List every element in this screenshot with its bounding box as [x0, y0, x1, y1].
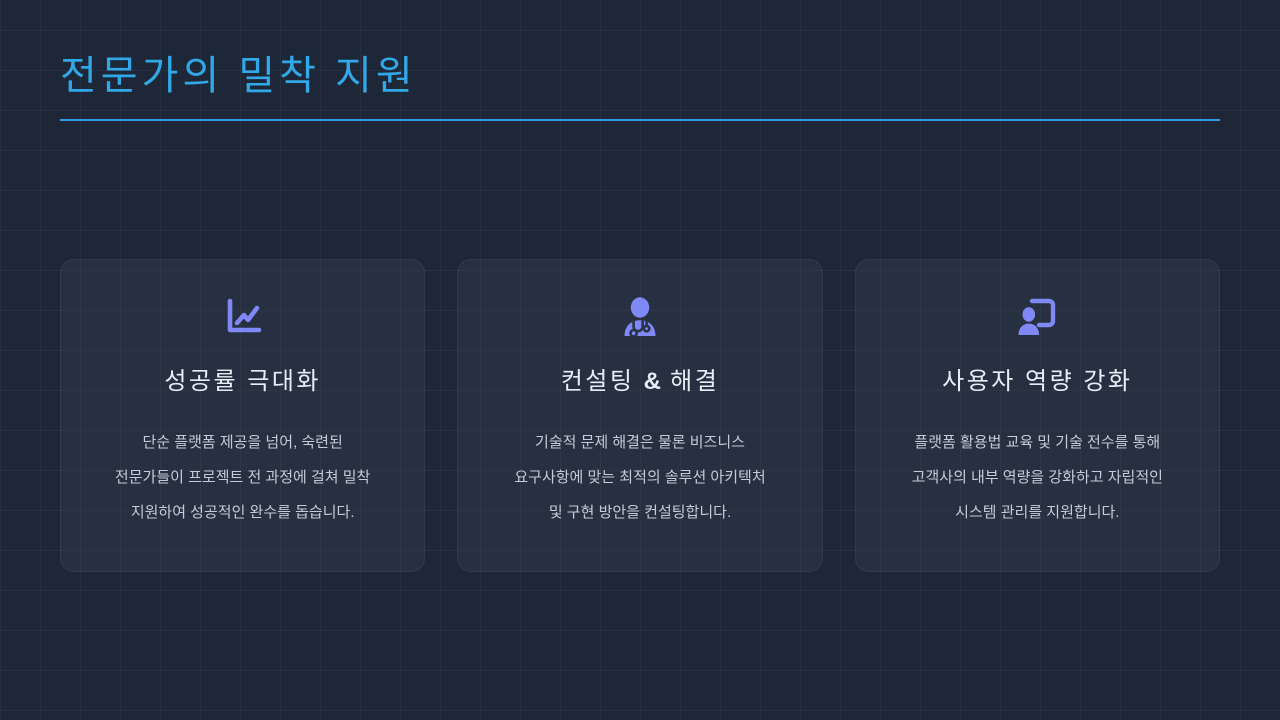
card-description: 단순 플랫폼 제공을 넘어, 숙련된 전문가들이 프로젝트 전 과정에 걸쳐 밀… — [83, 425, 403, 530]
title-divider — [60, 119, 1220, 121]
card-title-ampersand: & — [644, 368, 661, 395]
card-description-line: 및 구현 방안을 컨설팅합니다. — [480, 495, 800, 530]
feature-card-row: 성공률 극대화 단순 플랫폼 제공을 넘어, 숙련된 전문가들이 프로젝트 전 … — [60, 259, 1220, 572]
feature-card-user-enablement[interactable]: 사용자 역량 강화 플랫폼 활용법 교육 및 기술 전수를 통해 고객사의 내부… — [855, 259, 1220, 572]
line-chart-icon — [219, 293, 267, 341]
card-description-line: 기술적 문제 해결은 물론 비즈니스 — [480, 425, 800, 460]
card-description-line: 단순 플랫폼 제공을 넘어, 숙련된 — [83, 425, 403, 460]
card-description-line: 요구사항에 맞는 최적의 솔루션 아키텍처 — [480, 460, 800, 495]
card-description: 플랫폼 활용법 교육 및 기술 전수를 통해 고객사의 내부 역량을 강화하고 … — [877, 425, 1197, 530]
card-title-prefix: 컨설팅 — [561, 368, 644, 395]
card-description-line: 전문가들이 프로젝트 전 과정에 걸쳐 밀착 — [83, 460, 403, 495]
person-presentation-icon — [1013, 293, 1061, 341]
slide-header: 전문가의 밀착 지원 — [60, 52, 1220, 121]
card-description-line: 플랫폼 활용법 교육 및 기술 전수를 통해 — [877, 425, 1197, 460]
card-title-suffix: 해결 — [661, 368, 719, 395]
consultant-stethoscope-icon — [616, 293, 664, 341]
feature-card-consulting[interactable]: 컨설팅 & 해결 기술적 문제 해결은 물론 비즈니스 요구사항에 맞는 최적의… — [457, 259, 822, 572]
card-description-line: 고객사의 내부 역량을 강화하고 자립적인 — [877, 460, 1197, 495]
feature-card-success-rate[interactable]: 성공률 극대화 단순 플랫폼 제공을 넘어, 숙련된 전문가들이 프로젝트 전 … — [60, 259, 425, 572]
card-description: 기술적 문제 해결은 물론 비즈니스 요구사항에 맞는 최적의 솔루션 아키텍처… — [480, 425, 800, 530]
card-title: 컨설팅 & 해결 — [561, 367, 720, 397]
page-title: 전문가의 밀착 지원 — [60, 52, 1220, 100]
card-description-line: 시스템 관리를 지원합니다. — [877, 495, 1197, 530]
card-title: 사용자 역량 강화 — [942, 367, 1132, 397]
card-description-line: 지원하여 성공적인 완수를 돕습니다. — [83, 495, 403, 530]
card-title: 성공률 극대화 — [164, 367, 321, 397]
